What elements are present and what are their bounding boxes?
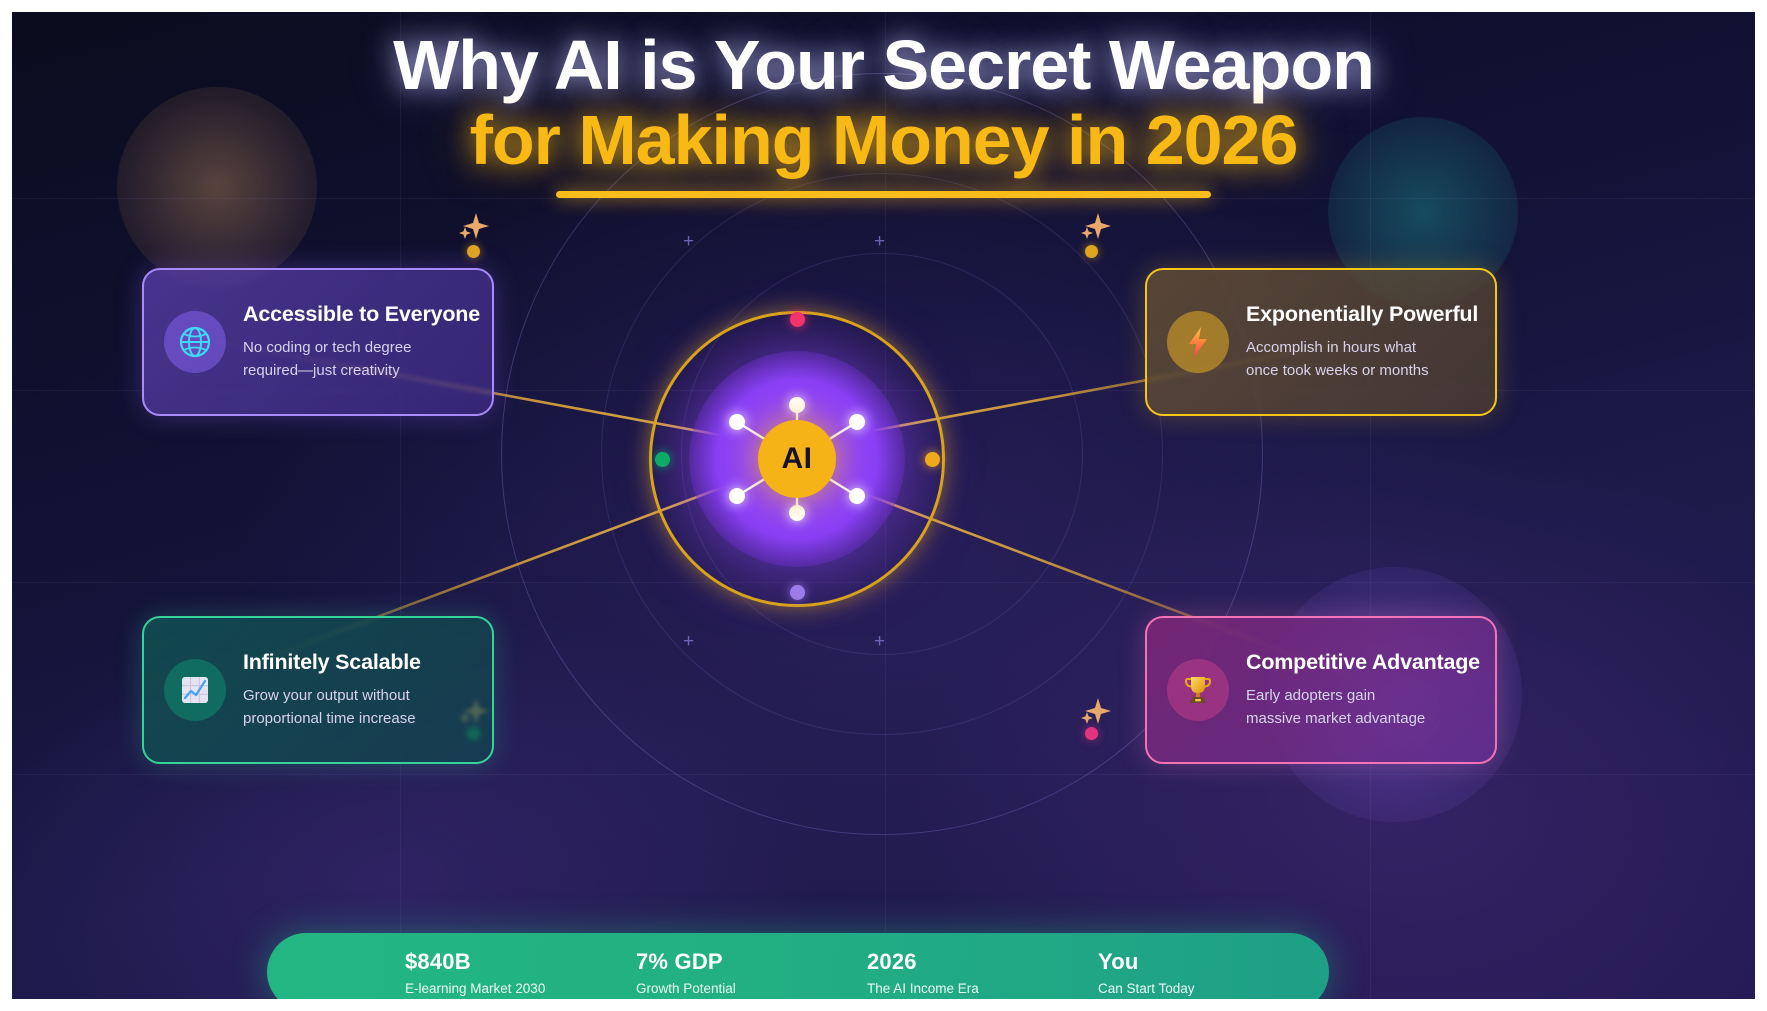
card-desc-line-1: Early adopters gain [1246, 684, 1475, 707]
hub-core: AI [758, 420, 836, 498]
card-body: Exponentially Powerful Accomplish in hou… [1246, 302, 1475, 383]
infographic-canvas: + + + + Why AI is Your Secret Weapon for… [12, 12, 1755, 999]
stat-label: Growth Potential [636, 981, 867, 996]
hub-node [729, 488, 745, 504]
sparkle-icon [452, 207, 492, 247]
sparkle-icon [1074, 692, 1114, 732]
feature-card-powerful[interactable]: Exponentially Powerful Accomplish in hou… [1145, 268, 1497, 416]
stat-value: You [1098, 949, 1329, 975]
decor-dot [467, 245, 480, 258]
page-title-line-2: for Making Money in 2026 [12, 105, 1755, 176]
decor-dot [1085, 727, 1098, 740]
card-title: Infinitely Scalable [243, 650, 472, 675]
hub-node [849, 414, 865, 430]
plus-decor-icon: + [683, 632, 694, 651]
stat-item: 2026 The AI Income Era [867, 949, 1098, 996]
stat-value: 2026 [867, 949, 1098, 975]
card-title: Accessible to Everyone [243, 302, 472, 327]
ai-hub: AI [627, 289, 967, 629]
stat-item: You Can Start Today [1098, 949, 1329, 996]
hub-node [789, 505, 805, 521]
stat-label: The AI Income Era [867, 981, 1098, 996]
card-body: Competitive Advantage Early adopters gai… [1246, 650, 1475, 731]
card-desc-line-1: Accomplish in hours what [1246, 336, 1475, 359]
plus-decor-icon: + [874, 232, 885, 251]
hub-node [849, 488, 865, 504]
lightning-bolt-icon [1167, 311, 1229, 373]
feature-card-accessible[interactable]: Accessible to Everyone No coding or tech… [142, 268, 494, 416]
feature-card-advantage[interactable]: Competitive Advantage Early adopters gai… [1145, 616, 1497, 764]
stat-value: $840B [405, 949, 636, 975]
card-desc-line-1: Grow your output without [243, 684, 472, 707]
page-title-line-1: Why AI is Your Secret Weapon [12, 30, 1755, 101]
stat-item: $840B E-learning Market 2030 [405, 949, 636, 996]
card-body: Infinitely Scalable Grow your output wit… [243, 650, 472, 731]
hub-node [789, 397, 805, 413]
stats-bar: $840B E-learning Market 2030 7% GDP Grow… [267, 933, 1329, 999]
title-underline [556, 191, 1211, 198]
decor-dot [1085, 245, 1098, 258]
trophy-icon [1167, 659, 1229, 721]
chart-increasing-icon [164, 659, 226, 721]
stat-label: Can Start Today [1098, 981, 1329, 996]
card-body: Accessible to Everyone No coding or tech… [243, 302, 472, 383]
sparkle-icon [1074, 207, 1114, 247]
card-title: Competitive Advantage [1246, 650, 1475, 675]
hub-core-label: AI [782, 442, 813, 476]
stat-value: 7% GDP [636, 949, 867, 975]
card-desc-line-2: required—just creativity [243, 359, 472, 382]
card-title: Exponentially Powerful [1246, 302, 1475, 327]
plus-decor-icon: + [683, 232, 694, 251]
background-grid-line [12, 774, 1755, 775]
card-desc-line-2: proportional time increase [243, 707, 472, 730]
card-desc-line-1: No coding or tech degree [243, 336, 472, 359]
background-grid-line [12, 198, 1755, 199]
card-desc-line-2: massive market advantage [1246, 707, 1475, 730]
card-desc-line-2: once took weeks or months [1246, 359, 1475, 382]
globe-icon [164, 311, 226, 373]
hub-node [729, 414, 745, 430]
plus-decor-icon: + [874, 632, 885, 651]
stat-label: E-learning Market 2030 [405, 981, 636, 996]
stat-item: 7% GDP Growth Potential [636, 949, 867, 996]
feature-card-scalable[interactable]: Infinitely Scalable Grow your output wit… [142, 616, 494, 764]
page-header: Why AI is Your Secret Weapon for Making … [12, 30, 1755, 198]
